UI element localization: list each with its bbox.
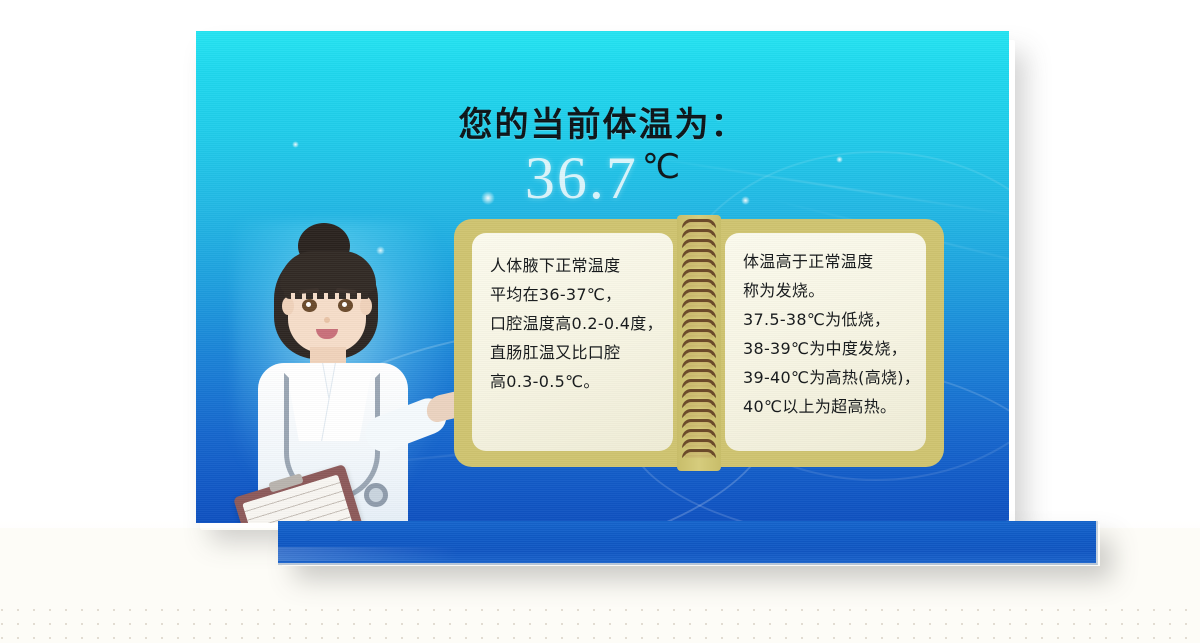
temperature-readout: 36.7℃ xyxy=(196,144,1009,213)
temperature-unit: ℃ xyxy=(642,147,680,187)
info-line: 称为发烧。 xyxy=(743,276,914,305)
doctor-lab-coat xyxy=(258,363,408,523)
doctor-arm xyxy=(360,393,451,457)
doctor-hair-bun xyxy=(298,223,350,269)
info-line: 37.5-38℃为低烧， xyxy=(743,305,914,334)
info-line: 高0.3-0.5℃。 xyxy=(490,367,661,396)
info-book-left-page-content: 人体腋下正常温度 平均在36-37℃， 口腔温度高0.2-0.4度， 直肠肛温又… xyxy=(472,233,673,451)
doctor-coat-lapel xyxy=(321,363,373,441)
doctor-eyebrow xyxy=(299,288,319,294)
info-book: 人体腋下正常温度 平均在36-37℃， 口腔温度高0.2-0.4度， 直肠肛温又… xyxy=(454,219,944,467)
doctor-neck xyxy=(310,347,346,373)
doctor-ear xyxy=(360,297,372,315)
info-book-right-page: 体温高于正常温度 称为发烧。 37.5-38℃为低烧， 38-39℃为中度发烧，… xyxy=(715,219,944,467)
clipboard-icon xyxy=(233,464,371,523)
info-line: 体温高于正常温度 xyxy=(743,247,914,276)
overlapping-screen-strip xyxy=(278,521,1098,565)
doctor-eyebrow xyxy=(336,288,356,294)
doctor-nose xyxy=(324,317,330,323)
clipboard-paper xyxy=(242,474,360,523)
doctor-scrub-top xyxy=(298,367,360,437)
sparkle-dot xyxy=(376,246,385,255)
info-line: 直肠肛温又比口腔 xyxy=(490,338,661,367)
info-line: 40℃以上为超高热。 xyxy=(743,392,914,421)
info-book-left-page: 人体腋下正常温度 平均在36-37℃， 口腔温度高0.2-0.4度， 直肠肛温又… xyxy=(454,219,683,467)
doctor-mouth xyxy=(316,329,338,339)
page-title: 您的当前体温为： xyxy=(196,97,1009,146)
panel-sheen xyxy=(278,547,458,561)
stethoscope-icon xyxy=(284,373,380,501)
info-book-right-page-content: 体温高于正常温度 称为发烧。 37.5-38℃为低烧， 38-39℃为中度发烧，… xyxy=(725,233,926,451)
screenshot-root: 您的当前体温为： 36.7℃ xyxy=(0,0,1200,643)
book-spiral-binding xyxy=(677,215,721,471)
doctor-hair-fringe xyxy=(280,251,376,293)
doctor-coat-lapel xyxy=(285,363,337,441)
info-line: 平均在36-37℃， xyxy=(490,280,661,309)
doctor-hair xyxy=(274,247,378,359)
info-line: 人体腋下正常温度 xyxy=(490,251,661,280)
stethoscope-chestpiece-icon xyxy=(364,483,388,507)
info-line: 38-39℃为中度发烧， xyxy=(743,334,914,363)
doctor-glow xyxy=(234,221,454,521)
female-doctor-illustration xyxy=(214,221,474,523)
doctor-eye xyxy=(338,299,353,312)
doctor-face xyxy=(288,261,366,353)
temperature-value: 36.7 xyxy=(525,145,638,211)
kiosk-screen: 您的当前体温为： 36.7℃ xyxy=(196,31,1009,523)
clipboard-clip-icon xyxy=(268,473,303,493)
info-line: 39-40℃为高热(高烧)， xyxy=(743,363,914,392)
backdrop-dot-texture xyxy=(0,608,1200,643)
doctor-eye xyxy=(302,299,317,312)
doctor-ear xyxy=(282,297,294,315)
info-line: 口腔温度高0.2-0.4度， xyxy=(490,309,661,338)
